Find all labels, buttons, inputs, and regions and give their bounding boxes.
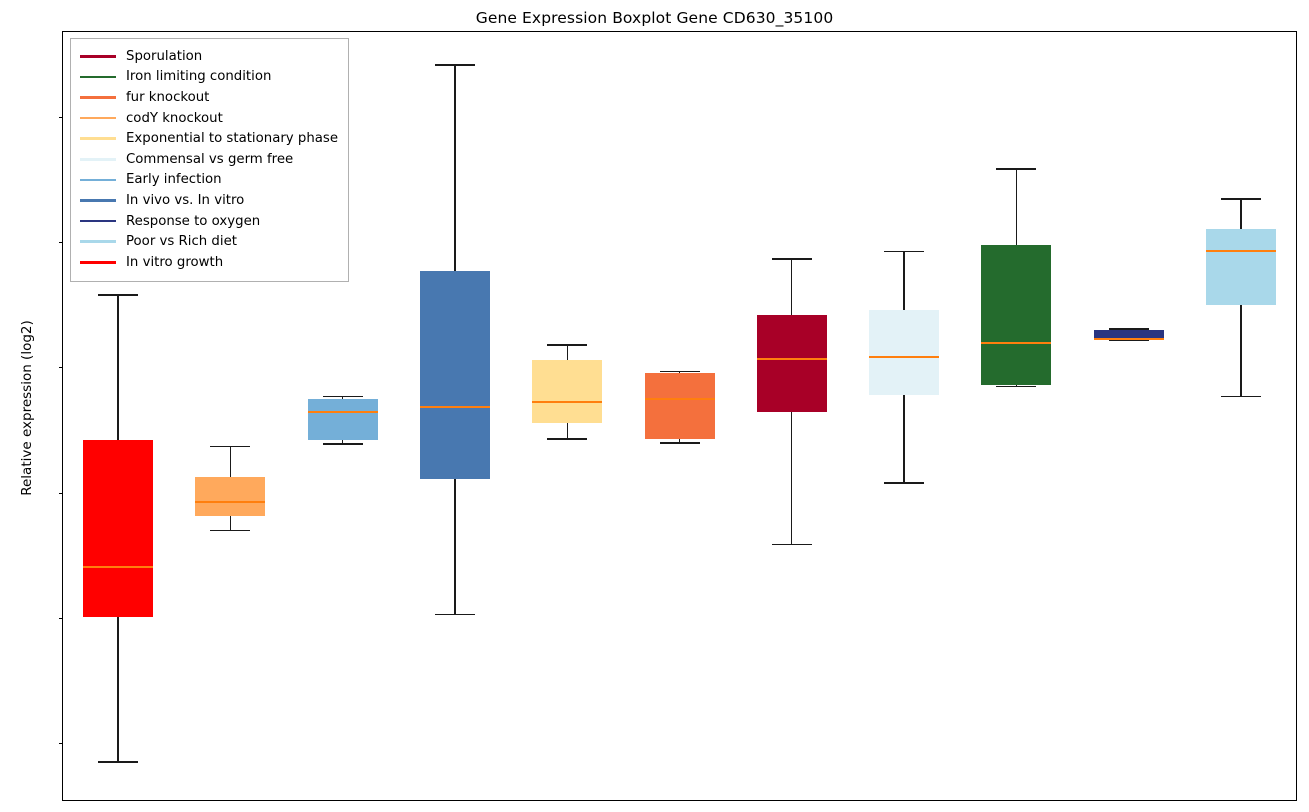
legend-item[interactable]: codY knockout (80, 108, 338, 129)
legend-color-swatch (80, 137, 116, 140)
page-title: Gene Expression Boxplot Gene CD630_35100 (0, 9, 1309, 27)
legend-color-swatch (80, 220, 116, 223)
legend-item[interactable]: In vitro growth (80, 252, 338, 273)
legend-color-swatch (80, 179, 116, 182)
legend-item[interactable]: Commensal vs germ free (80, 149, 338, 170)
whisker-lower (1240, 305, 1241, 396)
legend-item[interactable]: fur knockout (80, 87, 338, 108)
legend-item[interactable]: In vivo vs. In vitro (80, 190, 338, 211)
legend-item[interactable]: Early infection (80, 170, 338, 191)
legend-color-swatch (80, 261, 116, 264)
whisker-upper (1240, 199, 1241, 229)
legend-item-label: codY knockout (126, 111, 223, 126)
legend-color-swatch (80, 158, 116, 161)
legend-item[interactable]: Sporulation (80, 46, 338, 67)
legend: SporulationIron limiting conditionfur kn… (70, 38, 349, 282)
legend-item-label: Poor vs Rich diet (126, 234, 237, 249)
legend-item[interactable]: Iron limiting condition (80, 67, 338, 88)
median-line (1206, 250, 1276, 252)
box-poor-vs-rich-diet[interactable] (1206, 229, 1276, 305)
legend-color-swatch (80, 240, 116, 243)
legend-color-swatch (80, 55, 116, 58)
legend-item-label: In vivo vs. In vitro (126, 193, 244, 208)
legend-item-label: In vitro growth (126, 255, 223, 270)
legend-item-label: fur knockout (126, 90, 209, 105)
legend-color-swatch (80, 199, 116, 202)
legend-item-label: Sporulation (126, 49, 202, 64)
legend-color-swatch (80, 76, 116, 79)
legend-color-swatch (80, 117, 116, 120)
y-axis-ticks: 210−1−2−3 (0, 0, 62, 812)
legend-item-label: Exponential to stationary phase (126, 131, 338, 146)
legend-item-label: Commensal vs germ free (126, 152, 293, 167)
legend-item[interactable]: Exponential to stationary phase (80, 128, 338, 149)
whisker-cap-upper (1221, 198, 1261, 200)
legend-color-swatch (80, 96, 116, 99)
whisker-cap-lower (1221, 396, 1261, 398)
legend-item-label: Iron limiting condition (126, 69, 271, 84)
figure-canvas: Gene Expression Boxplot Gene CD630_35100… (0, 0, 1309, 812)
legend-item[interactable]: Poor vs Rich diet (80, 231, 338, 252)
legend-item[interactable]: Response to oxygen (80, 211, 338, 232)
legend-item-label: Response to oxygen (126, 214, 260, 229)
legend-item-label: Early infection (126, 172, 222, 187)
